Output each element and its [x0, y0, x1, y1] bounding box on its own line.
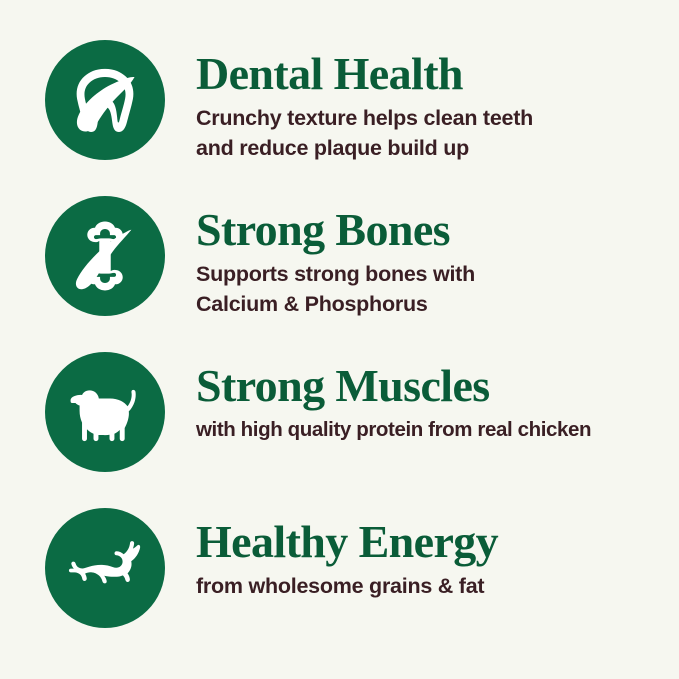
- benefit-description-line: Calcium & Phosphorus: [196, 289, 669, 319]
- benefit-description-line: from wholesome grains & fat: [196, 571, 669, 601]
- benefit-item-strong-muscles: Strong Muscles with high quality protein…: [0, 352, 679, 472]
- benefit-icon-badge: [45, 508, 165, 628]
- benefit-title: Dental Health: [196, 49, 669, 99]
- benefit-icon-badge: [45, 40, 165, 160]
- benefit-description-line: Crunchy texture helps clean teeth: [196, 103, 669, 133]
- benefit-description-line: with high quality protein from real chic…: [196, 415, 669, 445]
- benefit-item-dental-health: Dental Health Crunchy texture helps clea…: [0, 40, 679, 163]
- benefit-description: from wholesome grains & fat: [196, 571, 669, 601]
- benefit-description-line: and reduce plaque build up: [196, 133, 669, 163]
- benefit-title: Strong Bones: [196, 205, 669, 255]
- tooth-leaf-icon: [64, 59, 146, 141]
- benefit-text-block: Strong Muscles with high quality protein…: [165, 352, 679, 445]
- benefit-item-strong-bones: Strong Bones Supports strong bones with …: [0, 196, 679, 319]
- benefit-title: Healthy Energy: [196, 517, 669, 567]
- benefit-text-block: Healthy Energy from wholesome grains & f…: [165, 508, 679, 601]
- benefit-description-line: Supports strong bones with: [196, 259, 669, 289]
- benefit-icon-badge: [45, 352, 165, 472]
- benefit-text-block: Strong Bones Supports strong bones with …: [165, 196, 679, 319]
- bone-leaf-icon: [64, 215, 146, 297]
- benefit-title: Strong Muscles: [196, 361, 669, 411]
- leaping-dog-icon: [64, 527, 146, 609]
- benefit-description: with high quality protein from real chic…: [196, 415, 669, 445]
- benefit-description: Supports strong bones with Calcium & Pho…: [196, 259, 669, 319]
- benefits-infographic: Dental Health Crunchy texture helps clea…: [0, 0, 679, 679]
- benefit-description: Crunchy texture helps clean teeth and re…: [196, 103, 669, 163]
- benefit-item-healthy-energy: Healthy Energy from wholesome grains & f…: [0, 508, 679, 628]
- benefit-text-block: Dental Health Crunchy texture helps clea…: [165, 40, 679, 163]
- benefit-icon-badge: [45, 196, 165, 316]
- standing-dog-icon: [64, 371, 146, 453]
